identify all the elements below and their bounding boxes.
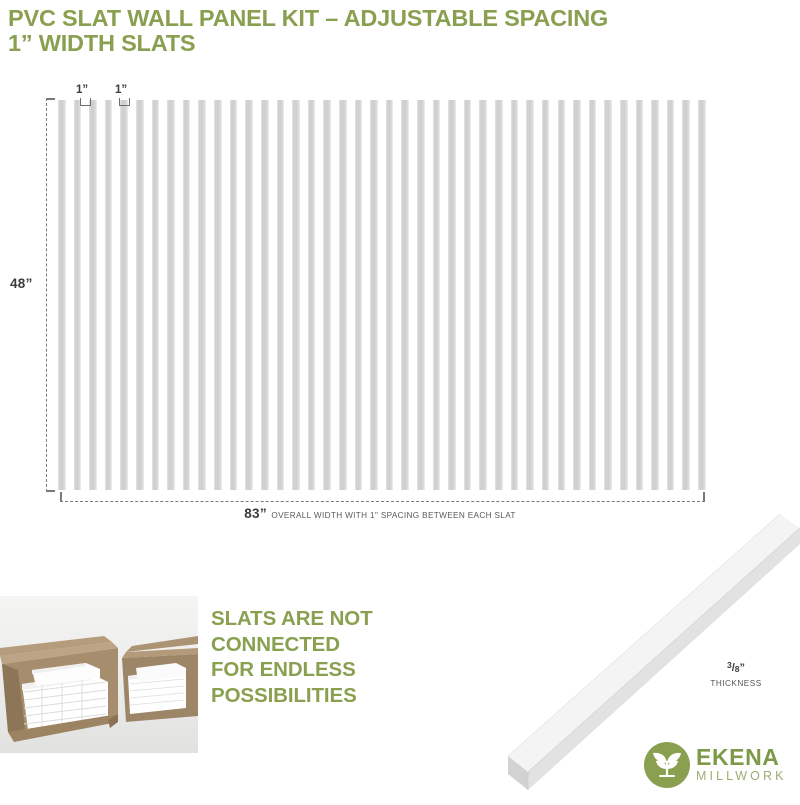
- slat: [511, 100, 519, 490]
- packaging-photo: [0, 596, 198, 753]
- slat: [464, 100, 472, 490]
- gap-width-label: 1”: [115, 84, 127, 96]
- slat: [604, 100, 612, 490]
- slat: [433, 100, 441, 490]
- slat: [214, 100, 222, 490]
- callout-line-1: SLATS ARE NOT: [211, 606, 461, 632]
- slat-width-bracket: [80, 98, 91, 106]
- thickness-numerator: 3: [727, 660, 732, 670]
- slat: [261, 100, 269, 490]
- thickness-word: THICKNESS: [688, 679, 784, 688]
- ekena-millwork-logo: EKENA MILLWORK: [644, 740, 796, 792]
- slat: [74, 100, 82, 490]
- slat: [651, 100, 659, 490]
- width-dimension-value: 83”: [244, 506, 267, 521]
- thickness-callout: 3/8” THICKNESS: [688, 658, 784, 688]
- slat: [401, 100, 409, 490]
- slat: [620, 100, 628, 490]
- slat-row: [58, 100, 706, 490]
- logo-brand: EKENA: [696, 745, 787, 769]
- slat: [339, 100, 347, 490]
- thickness-fraction: 3/8”: [727, 660, 745, 675]
- slat: [386, 100, 394, 490]
- slat: [89, 100, 97, 490]
- packaging-illustration: [0, 596, 198, 753]
- leaf-glyph: [644, 742, 690, 788]
- slat: [479, 100, 487, 490]
- slat: [370, 100, 378, 490]
- slat: [183, 100, 191, 490]
- slat-width-label: 1”: [76, 84, 88, 96]
- logo-wordmark: EKENA MILLWORK: [696, 745, 787, 784]
- slat: [136, 100, 144, 490]
- height-dimension-label: 48”: [10, 276, 33, 291]
- slat: [355, 100, 363, 490]
- slat: [589, 100, 597, 490]
- width-tick-left: [60, 492, 62, 501]
- slat: [308, 100, 316, 490]
- slat: [198, 100, 206, 490]
- callout-text-block: SLATS ARE NOT CONNECTED FOR ENDLESS POSS…: [211, 606, 461, 708]
- slat: [558, 100, 566, 490]
- slat: [448, 100, 456, 490]
- callout-line-2: CONNECTED: [211, 632, 461, 658]
- slat: [495, 100, 503, 490]
- slat: [58, 100, 66, 490]
- logo-subtitle: MILLWORK: [696, 769, 787, 784]
- thickness-unit: ”: [740, 662, 746, 674]
- slat: [323, 100, 331, 490]
- slat: [526, 100, 534, 490]
- slat: [245, 100, 253, 490]
- slat: [573, 100, 581, 490]
- callout-line-4: POSSIBILITIES: [211, 683, 461, 709]
- height-tick-top: [46, 98, 55, 100]
- slat-panel-diagram: 48” 83” OVERALL WIDTH WITH 1" SPACING BE…: [0, 0, 800, 540]
- slat: [230, 100, 238, 490]
- slat: [698, 100, 706, 490]
- slat: [167, 100, 175, 490]
- slat: [152, 100, 160, 490]
- gap-width-bracket: [119, 98, 130, 106]
- slat: [682, 100, 690, 490]
- slat: [636, 100, 644, 490]
- height-dimension-line: [46, 98, 47, 492]
- slat: [105, 100, 113, 490]
- slat: [120, 100, 128, 490]
- slat: [542, 100, 550, 490]
- callout-line-3: FOR ENDLESS: [211, 657, 461, 683]
- height-tick-bottom: [46, 490, 55, 492]
- leaf-icon: [644, 742, 690, 788]
- slat: [417, 100, 425, 490]
- slat: [667, 100, 675, 490]
- slat: [292, 100, 300, 490]
- slat: [277, 100, 285, 490]
